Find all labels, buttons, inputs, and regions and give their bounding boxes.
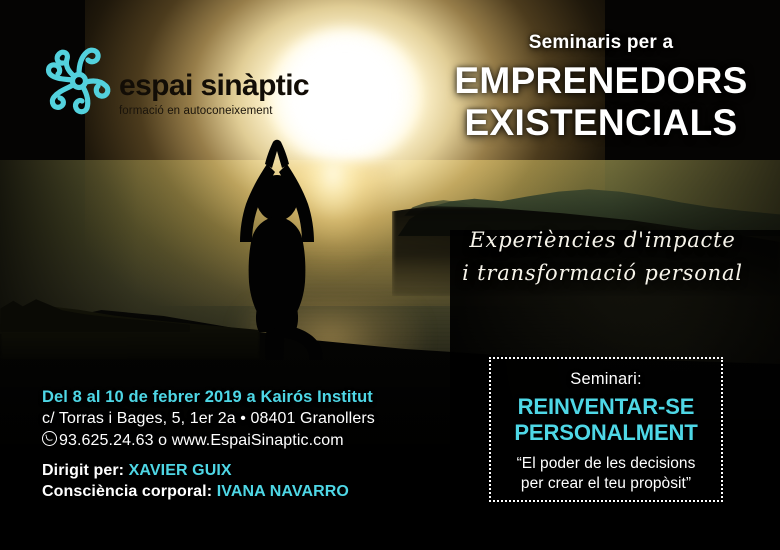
headline-line-2: EXISTENCIALS — [440, 102, 762, 144]
yoga-tree-pose-silhouette — [215, 138, 341, 360]
script-tagline: Experiències d'impacte i transformació p… — [455, 224, 750, 289]
script-tagline-line-1: Experiències d'impacte — [455, 224, 750, 257]
synapse-neuron-icon — [43, 43, 115, 117]
seminar-label: Seminari: — [491, 370, 721, 389]
credit-director-name: XAVIER GUIX — [129, 462, 232, 479]
logo[interactable]: espai sinàptic formació en autoconeixeme… — [43, 43, 309, 119]
headline-block: Seminaris per a EMPRENEDORS EXISTENCIALS — [440, 32, 762, 144]
phone-circle-icon — [42, 431, 57, 446]
event-address: c/ Torras i Bages, 5, 1er 2a • 08401 Gra… — [42, 410, 375, 428]
credit-director-label: Dirigit per: — [42, 462, 124, 479]
event-info: Del 8 al 10 de febrer 2019 a Kairós Inst… — [42, 388, 375, 450]
poster: espai sinàptic formació en autoconeixeme… — [0, 0, 780, 550]
logo-wordmark: espai sinàptic formació en autoconeixeme… — [119, 71, 309, 119]
seminar-title: REINVENTAR-SE PERSONALMENT — [491, 394, 721, 446]
seminar-quote-line-2: per crear el teu propòsit” — [491, 474, 721, 494]
headline-main: EMPRENEDORS EXISTENCIALS — [440, 60, 762, 144]
credit-director: Dirigit per: XAVIER GUIX — [42, 462, 349, 480]
seminar-quote: “El poder de les decisions per crear el … — [491, 454, 721, 494]
seminar-title-line-1: REINVENTAR-SE — [491, 394, 721, 420]
headline-kicker: Seminaris per a — [440, 32, 762, 54]
headline-line-1: EMPRENEDORS — [440, 60, 762, 102]
seminar-title-line-2: PERSONALMENT — [491, 420, 721, 446]
credit-body-label: Consciència corporal: — [42, 483, 212, 500]
credits-block: Dirigit per: XAVIER GUIX Consciència cor… — [42, 462, 349, 504]
seminar-quote-line-1: “El poder de les decisions — [491, 454, 721, 474]
script-tagline-line-2: i transformació personal — [455, 257, 750, 290]
logo-tagline: formació en autoconeixement — [119, 105, 309, 117]
event-contact: 93.625.24.63 o www.EspaiSinaptic.com — [42, 431, 375, 450]
event-contact-text[interactable]: 93.625.24.63 o www.EspaiSinaptic.com — [59, 432, 344, 449]
credit-body-name: IVANA NAVARRO — [217, 483, 349, 500]
credit-body: Consciència corporal: IVANA NAVARRO — [42, 483, 349, 501]
event-date: Del 8 al 10 de febrer 2019 a Kairós Inst… — [42, 388, 375, 407]
logo-name: espai sinàptic — [119, 71, 309, 101]
seminar-box: Seminari: REINVENTAR-SE PERSONALMENT “El… — [489, 357, 723, 502]
